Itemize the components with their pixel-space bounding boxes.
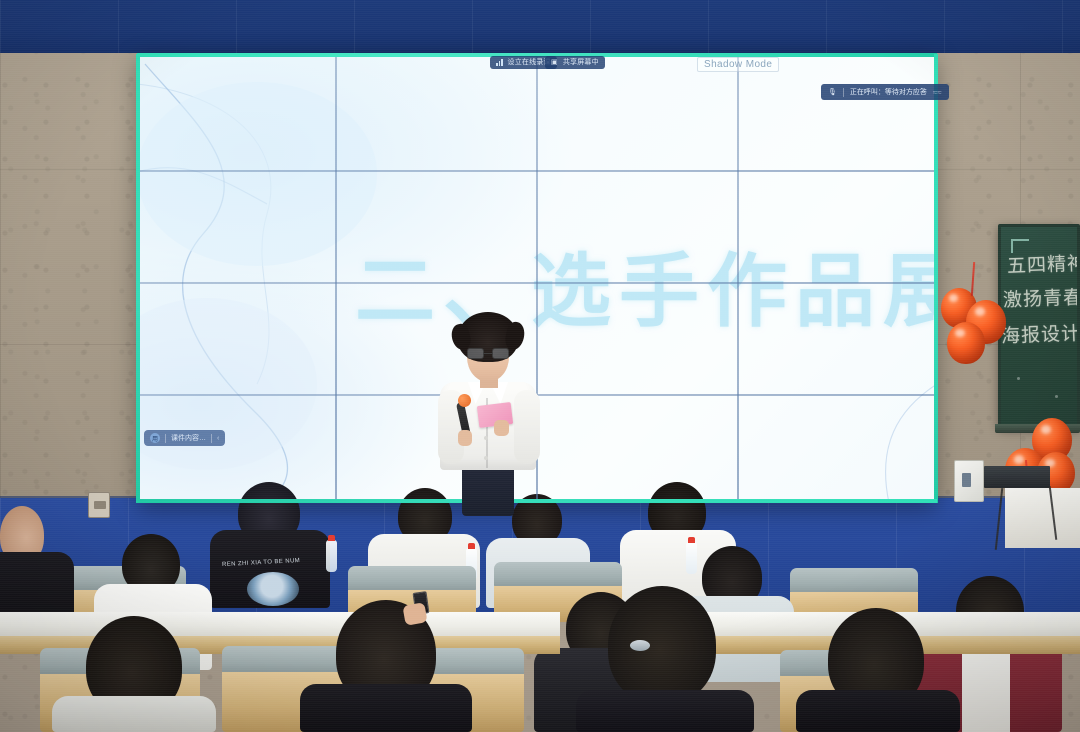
audience-person (576, 690, 754, 732)
chalk-corner-mark (1011, 239, 1029, 253)
chip-divider (165, 434, 166, 443)
audience-person (52, 696, 216, 732)
water-bottle (686, 542, 697, 574)
chip-divider (211, 434, 212, 443)
tshirt-graphic (247, 572, 299, 606)
audience-person (796, 690, 960, 732)
blackboard-line-3: 海报设计 (1001, 322, 1078, 349)
wall-controller-panel[interactable] (954, 460, 984, 502)
wall-socket (88, 492, 110, 518)
blackboard-line-2: 激扬青春 (1003, 286, 1080, 313)
status-pill-sharing[interactable]: ▣ 共享屏幕中 (545, 56, 605, 69)
shadow-mode-label: Shadow Mode (697, 57, 779, 72)
av-equipment-rack (984, 466, 1050, 488)
videowall-bezel-horizontal (137, 282, 937, 284)
videowall-bezel-horizontal (137, 170, 937, 172)
share-screen-icon: ▣ (551, 58, 558, 67)
videowall-bezel-vertical (737, 54, 739, 503)
presenter (432, 312, 544, 512)
chalk-speck (1055, 395, 1058, 398)
blackboard: 五四精神 激扬青春 海报设计 (998, 224, 1080, 428)
desktop (0, 612, 560, 638)
top-wall-band (0, 0, 1080, 53)
call-status-badge[interactable]: 🎙 正在呼叫：等待对方应答 ≈≈ (821, 84, 949, 100)
chalk-speck (1017, 377, 1020, 380)
presenter-hand-right (494, 420, 509, 436)
call-status-label: 正在呼叫：等待对方应答 (850, 87, 927, 97)
presenter-trousers (462, 464, 514, 516)
videowall-bezel-vertical (335, 54, 337, 503)
presenter-hand-left (458, 430, 472, 446)
status-pill-sharing-label: 共享屏幕中 (563, 58, 599, 67)
signal-bars-icon (496, 59, 503, 66)
audience-person (300, 684, 472, 732)
chevron-left-icon[interactable]: ‹ (217, 435, 219, 442)
shirt-button (484, 456, 488, 460)
audience-head-foreground (608, 586, 716, 704)
lecture-hall-photo: 二、选手作品展示 设立在线录课 ▣ 共享屏幕中 Shadow Mode 🎙 正在… (0, 0, 1080, 732)
glasses-icon (466, 348, 510, 359)
seat-back (348, 566, 476, 592)
microphone-icon: 🎙 (828, 88, 837, 96)
participant-chip[interactable]: 用 课件内容… ‹ (144, 430, 225, 446)
audience-hand (402, 602, 427, 626)
shirt-button (484, 436, 488, 440)
seat-back (494, 562, 622, 588)
sound-wave-icon: ≈≈ (933, 88, 942, 97)
presenter-arm-right (514, 390, 540, 464)
balloon (947, 322, 985, 364)
badge-divider (843, 88, 844, 97)
avatar: 用 (150, 433, 160, 443)
side-desk (1005, 488, 1080, 548)
videowall-edge-left (136, 54, 140, 503)
blackboard-line-1: 五四精神 (1007, 252, 1080, 279)
videowall-edge-right (934, 54, 938, 503)
participant-chip-label: 课件内容… (171, 433, 206, 443)
hair-tie (630, 640, 650, 651)
seat-back (790, 568, 918, 594)
water-bottle (326, 540, 337, 572)
